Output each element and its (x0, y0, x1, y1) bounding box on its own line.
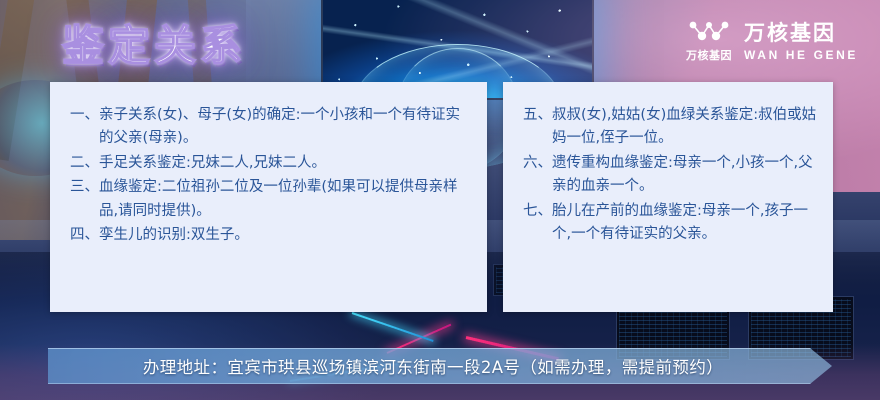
address-banner-text: 办理地址：宜宾市珙县巡场镇滨河东街南一段2A号（如需办理，需提前预约） (48, 348, 832, 384)
list-item-text: 血缘鉴定:二位祖孙二位及一位孙辈(如果可以提供母亲样品,请同时提供)。 (99, 176, 473, 223)
brand-logo: 万核基因 万核基因 WAN HE GENE (686, 16, 858, 63)
brand-name-cn: 万核基因 (744, 17, 858, 47)
brand-wordmark: 万核基因 WAN HE GENE (744, 17, 858, 62)
list-item-number: 五、 (523, 104, 552, 151)
list-item: 二、 手足关系鉴定:兄妹二人,兄妹二人。 (70, 152, 473, 175)
logo-mark-label: 万核基因 (686, 47, 732, 63)
list-item: 一、 亲子关系(女)、母子(女)的确定:一个小孩和一个有待证实的父亲(母亲)。 (70, 104, 473, 151)
list-item-text: 胎儿在产前的血缘鉴定:母亲一个,孩子一个,一个有待证实的父亲。 (552, 200, 819, 247)
page-title: 鉴定关系 (62, 12, 246, 73)
list-item: 六、 遗传重构血缘鉴定:母亲一个,小孩一个,父亲的血亲一个。 (523, 152, 819, 199)
list-item-text: 孪生儿的识别:双生子。 (99, 224, 473, 247)
list-item-number: 三、 (70, 176, 99, 223)
list-item-number: 二、 (70, 152, 99, 175)
list-item-number: 七、 (523, 200, 552, 247)
molecule-node-icon (686, 16, 732, 44)
list-item: 五、 叔叔(女),姑姑(女)血绿关系鉴定:叔伯或姑妈一位,侄子一位。 (523, 104, 819, 151)
list-item: 七、 胎儿在产前的血缘鉴定:母亲一个,孩子一个,一个有待证实的父亲。 (523, 200, 819, 247)
list-item-text: 遗传重构血缘鉴定:母亲一个,小孩一个,父亲的血亲一个。 (552, 152, 819, 199)
list-item: 四、 孪生儿的识别:双生子。 (70, 224, 473, 247)
list-item-number: 一、 (70, 104, 99, 151)
info-panel-left: 一、 亲子关系(女)、母子(女)的确定:一个小孩和一个有待证实的父亲(母亲)。 … (50, 82, 487, 312)
list-item-text: 叔叔(女),姑姑(女)血绿关系鉴定:叔伯或姑妈一位,侄子一位。 (552, 104, 819, 151)
list-item: 三、 血缘鉴定:二位祖孙二位及一位孙辈(如果可以提供母亲样品,请同时提供)。 (70, 176, 473, 223)
list-item-number: 四、 (70, 224, 99, 247)
logo-mark: 万核基因 (686, 16, 732, 63)
info-panel-right: 五、 叔叔(女),姑姑(女)血绿关系鉴定:叔伯或姑妈一位,侄子一位。 六、 遗传… (503, 82, 833, 312)
brand-name-en: WAN HE GENE (744, 48, 858, 62)
list-item-text: 亲子关系(女)、母子(女)的确定:一个小孩和一个有待证实的父亲(母亲)。 (99, 104, 473, 151)
list-item-text: 手足关系鉴定:兄妹二人,兄妹二人。 (99, 152, 473, 175)
list-item-number: 六、 (523, 152, 552, 199)
address-banner: 办理地址：宜宾市珙县巡场镇滨河东街南一段2A号（如需办理，需提前预约） (48, 348, 832, 384)
poster-canvas: 鉴定关系 (0, 0, 880, 400)
